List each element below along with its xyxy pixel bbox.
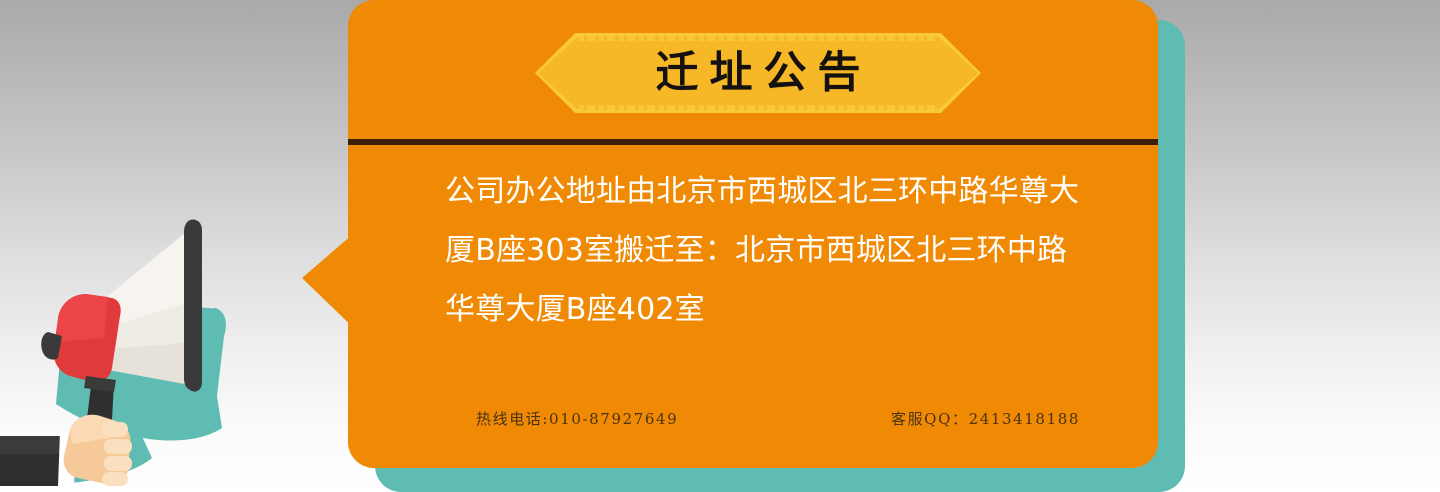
contact-footer: 热线电话:010-87927649 客服QQ：2413418188 [448, 408, 1108, 429]
arm-sleeve-highlight [0, 436, 66, 454]
qq-text: 客服QQ：2413418188 [891, 408, 1080, 429]
finger-4 [102, 472, 128, 486]
title-divider [348, 139, 1158, 145]
speech-bubble-tail [302, 228, 360, 334]
finger-3 [104, 456, 132, 471]
poster-canvas: 迁址公告 公司办公地址由北京市西城区北三环中路华尊大厦B座303室搬迁至：北京市… [0, 0, 1440, 492]
announcement-body: 公司办公地址由北京市西城区北三环中路华尊大厦B座303室搬迁至：北京市西城区北三… [445, 162, 1091, 339]
title-banner: 迁址公告 [535, 33, 981, 113]
megaphone-hand-icon [0, 190, 300, 492]
page-title: 迁址公告 [535, 33, 981, 113]
finger-1 [102, 422, 128, 437]
hotline-text: 热线电话:010-87927649 [476, 408, 678, 429]
megaphone-mouth-rim [184, 219, 202, 391]
finger-2 [104, 439, 132, 454]
megaphone-red-highlight [56, 294, 108, 342]
